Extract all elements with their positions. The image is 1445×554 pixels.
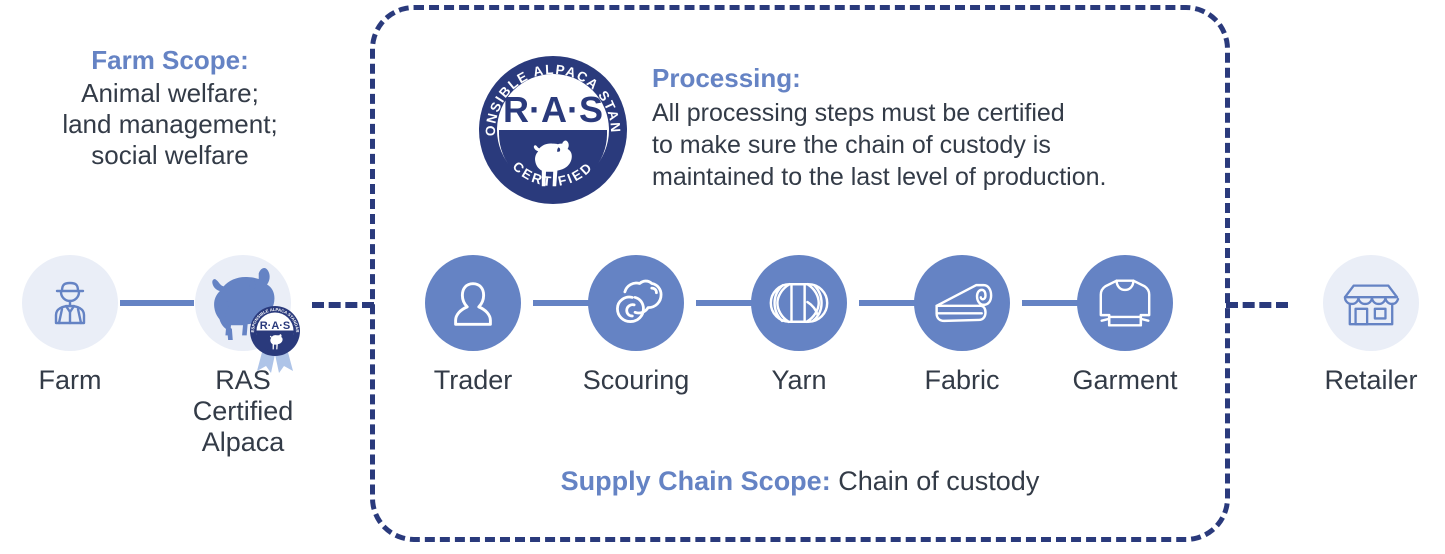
fabric-roll-icon <box>931 279 993 327</box>
person-icon <box>444 274 502 332</box>
retailer-circle[interactable] <box>1323 255 1419 351</box>
node-trader-label: Trader <box>398 365 548 396</box>
ras-certified-logo: R·A·S RESPONSIBLE ALPACA STANDARD CERTIF… <box>473 52 633 207</box>
farmer-icon <box>40 273 100 333</box>
processing-line-3: maintained to the last level of producti… <box>652 161 1122 193</box>
node-trader[interactable]: Trader <box>398 255 548 396</box>
node-fabric[interactable]: Fabric <box>887 255 1037 396</box>
node-farm-label: Farm <box>0 365 145 396</box>
node-garment-label: Garment <box>1050 365 1200 396</box>
farm-scope-line-2: land management; <box>10 109 330 140</box>
farm-circle[interactable] <box>22 255 118 351</box>
diagram-canvas: Farm Scope: Animal welfare; land managem… <box>0 0 1445 554</box>
ras-rosette-badge: R·A·S RESPONSIBLE ALPACA STANDARD <box>243 301 307 373</box>
dashed-connector-left <box>312 302 374 308</box>
node-scouring-label: Scouring <box>561 365 711 396</box>
ras-logo-center-text: R·A·S <box>503 89 603 130</box>
garment-circle[interactable] <box>1077 255 1173 351</box>
processing-line-2: to make sure the chain of custody is <box>652 129 1122 161</box>
node-yarn[interactable]: Yarn <box>724 255 874 396</box>
processing-line-1: All processing steps must be certified <box>652 97 1122 129</box>
node-garment[interactable]: Garment <box>1050 255 1200 396</box>
storefront-icon <box>1341 276 1401 330</box>
node-farm[interactable]: Farm <box>0 255 145 396</box>
svg-text:R·A·S: R·A·S <box>260 320 291 332</box>
fleece-icon <box>606 277 666 329</box>
trader-circle[interactable] <box>425 255 521 351</box>
dashed-connector-right <box>1226 302 1288 308</box>
yarn-ball-icon <box>768 279 830 327</box>
yarn-circle[interactable] <box>751 255 847 351</box>
ras-alpaca-circle[interactable]: R·A·S RESPONSIBLE ALPACA STANDARD <box>195 255 291 351</box>
node-yarn-label: Yarn <box>724 365 874 396</box>
farm-scope-text: Farm Scope: Animal welfare; land managem… <box>10 45 330 171</box>
supply-scope-heading: Supply Chain Scope: <box>561 466 831 496</box>
supply-chain-scope-caption: Supply Chain Scope: Chain of custody <box>370 466 1230 497</box>
fabric-circle[interactable] <box>914 255 1010 351</box>
farm-scope-heading: Farm Scope: <box>10 45 330 76</box>
node-ras-label: RAS Certified Alpaca <box>168 365 318 458</box>
supply-scope-text: Chain of custody <box>838 466 1039 496</box>
processing-heading: Processing: <box>652 62 1122 94</box>
farm-scope-line-1: Animal welfare; <box>10 78 330 109</box>
node-scouring[interactable]: Scouring <box>561 255 711 396</box>
farm-scope-line-3: social welfare <box>10 140 330 171</box>
scouring-circle[interactable] <box>588 255 684 351</box>
node-retailer-label: Retailer <box>1296 365 1445 396</box>
node-fabric-label: Fabric <box>887 365 1037 396</box>
processing-text: Processing: All processing steps must be… <box>652 62 1122 193</box>
node-ras-certified-alpaca[interactable]: R·A·S RESPONSIBLE ALPACA STANDARD RAS Ce… <box>168 255 318 458</box>
sweater-icon <box>1096 276 1154 330</box>
node-retailer[interactable]: Retailer <box>1296 255 1445 396</box>
